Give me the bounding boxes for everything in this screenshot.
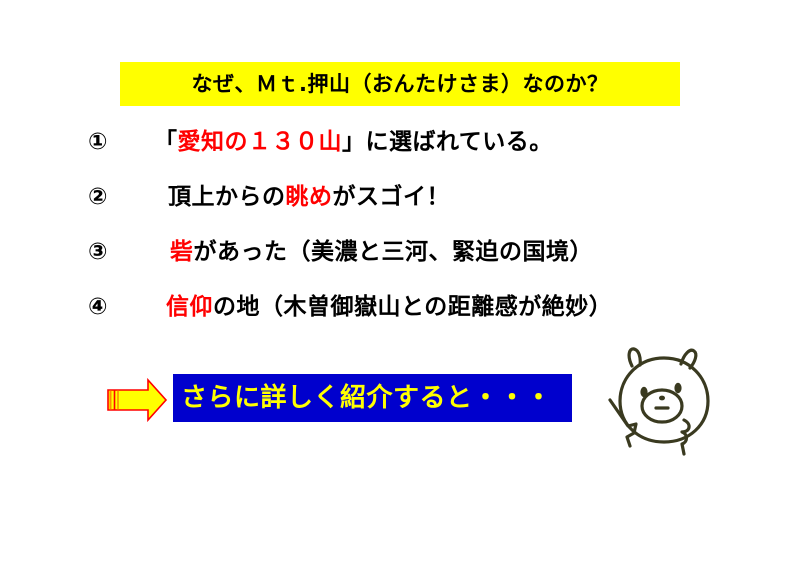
list-item-highlight: 信仰 <box>166 294 213 320</box>
mascot-snout <box>642 390 682 422</box>
list-item-marker: ① <box>88 131 134 154</box>
list-item: ③ 砦があった（美濃と三河、緊迫の国境） <box>0 241 798 296</box>
page-title: なぜ、Ｍｔ.押山（おんたけさま）なのか？ <box>192 74 609 95</box>
list-item-segment: がスゴイ！ <box>333 184 451 210</box>
mascot-nose <box>659 396 665 401</box>
list-item-segment: があった（美濃と三河、緊迫の国境） <box>194 239 594 265</box>
list-item-segment: 「 <box>154 129 178 155</box>
mascot-eye-left <box>640 387 647 397</box>
list-item-segment: 」に選ばれている。 <box>342 129 553 155</box>
list-item-segment: の地（木曽御嶽山との距離感が絶妙） <box>213 294 612 320</box>
mascot-ear-left <box>629 349 640 366</box>
callout-text: さらに詳しく紹介すると・・・ <box>173 385 552 411</box>
points-list: ① 「愛知の１３０山」に選ばれている。 ② 頂上からの眺めがスゴイ！ ③ 砦があ… <box>0 131 798 351</box>
list-item-marker: ② <box>88 186 134 209</box>
list-item: ① 「愛知の１３０山」に選ばれている。 <box>0 131 798 186</box>
mascot-arm-left <box>610 400 636 446</box>
list-item-segment: 頂上からの <box>168 184 286 210</box>
list-item: ② 頂上からの眺めがスゴイ！ <box>0 186 798 241</box>
list-item-marker: ④ <box>88 296 134 319</box>
list-item-text: 信仰の地（木曽御嶽山との距離感が絶妙） <box>166 296 612 319</box>
list-item-highlight: 愛知の１３０山 <box>178 129 343 155</box>
bear-mascot-illustration <box>572 338 772 464</box>
slide-title-banner: なぜ、Ｍｔ.押山（おんたけさま）なのか？ <box>120 62 680 106</box>
list-item-highlight: 砦 <box>170 239 194 265</box>
arrow-body <box>108 380 166 420</box>
list-item-text: 頂上からの眺めがスゴイ！ <box>168 186 450 209</box>
right-arrow-icon <box>106 377 168 423</box>
list-item-highlight: 眺め <box>286 184 333 210</box>
list-item-marker: ③ <box>88 241 134 264</box>
list-item-text: 「愛知の１３０山」に選ばれている。 <box>154 131 553 154</box>
callout-banner: さらに詳しく紹介すると・・・ <box>173 374 572 422</box>
list-item-text: 砦があった（美濃と三河、緊迫の国境） <box>170 241 593 264</box>
mascot-eye-right <box>674 383 681 393</box>
